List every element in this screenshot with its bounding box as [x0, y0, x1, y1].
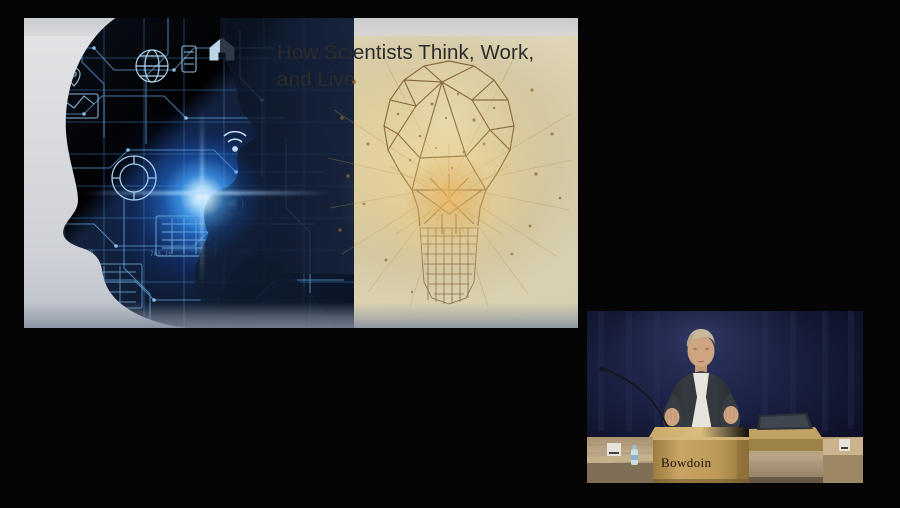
slide-title: How Scientists Think, Work, and Live	[277, 39, 567, 93]
laptop-side-table	[749, 413, 823, 451]
name-placard-right	[839, 439, 850, 451]
podium-label: Bowdoin	[661, 455, 711, 471]
name-placard	[607, 443, 621, 456]
lightbulb-rays	[334, 93, 564, 293]
svg-text:708.71: 708.71	[150, 251, 172, 258]
svg-text:00 .818: 00 .818	[68, 249, 94, 256]
lecture-capture-stage: 00 .818 708.71 -100 7	[0, 0, 900, 508]
front-table	[587, 454, 653, 483]
speaker-scene-svg	[587, 311, 863, 483]
light-flare-streak-vertical	[200, 108, 204, 288]
light-flare-streak-horizontal	[82, 191, 332, 195]
microphone-capsule	[599, 366, 604, 371]
speaker-pip-video[interactable]: Bowdoin	[587, 311, 863, 483]
slide-bottom-band	[24, 302, 578, 328]
presentation-slide[interactable]: 00 .818 708.71 -100 7	[24, 18, 578, 328]
